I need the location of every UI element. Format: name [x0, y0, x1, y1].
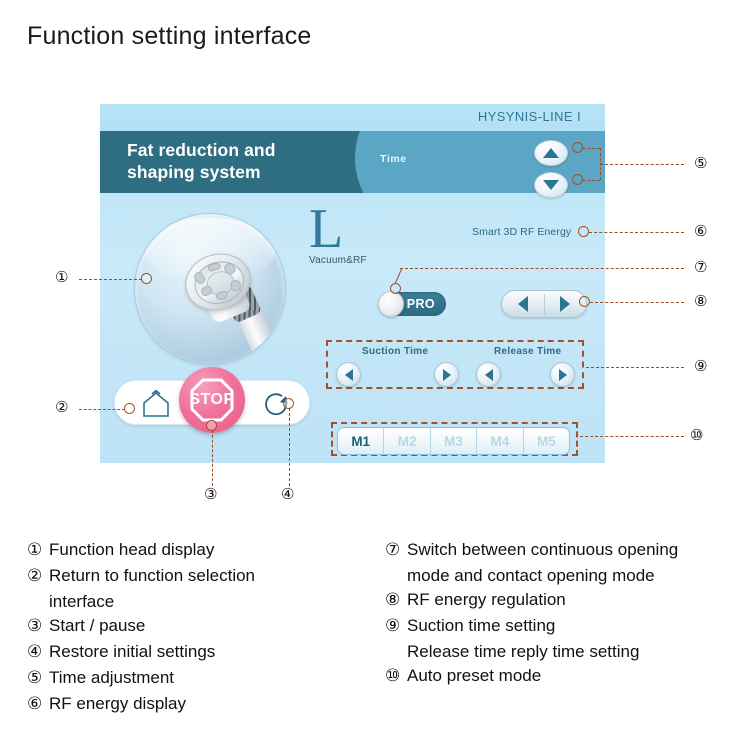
callout-number-10: ⑩ [690, 428, 703, 443]
triangle-up-icon [543, 148, 559, 158]
legend-item-9-text: Suction time setting [407, 614, 555, 638]
legend-column-right: ⑦ Switch between continuous opening mode… [385, 538, 750, 690]
banner-title-line2: shaping system [127, 161, 276, 183]
home-icon [141, 390, 171, 417]
legend-item-9-number: ⑨ [385, 614, 407, 638]
release-decrease-button[interactable] [476, 362, 501, 387]
legend-item-3-text: Start / pause [49, 614, 145, 638]
release-increase-button[interactable] [550, 362, 575, 387]
legend-item-3: ③ Start / pause [27, 614, 357, 638]
triangle-left-icon [485, 369, 493, 381]
release-time-label: Release Time [494, 346, 561, 357]
mode-logo-mark: L [309, 203, 343, 255]
callout-number-8: ⑧ [694, 294, 707, 309]
legend-item-6-number: ⑥ [27, 692, 49, 716]
suction-decrease-button[interactable] [336, 362, 361, 387]
legend-item-9: ⑨ Suction time setting Release time repl… [385, 614, 750, 664]
callout-line-6 [589, 232, 684, 233]
handpiece-pad [192, 270, 206, 285]
callout-anchor-2 [124, 403, 135, 414]
legend-item-10-text: Auto preset mode [407, 664, 541, 688]
preset-button-bar[interactable]: M1 M2 M3 M4 M5 [337, 427, 570, 455]
callout-line-10 [580, 436, 684, 437]
legend-item-1: ① Function head display [27, 538, 357, 562]
callout-number-9: ⑨ [694, 359, 707, 374]
pro-toggle-label: PRO [407, 297, 435, 311]
time-decrease-button[interactable] [534, 172, 568, 198]
legend-item-7-text: Switch between continuous opening [407, 538, 678, 562]
callout-number-1: ① [55, 270, 68, 285]
handpiece-pad [215, 290, 229, 301]
triangle-down-icon [543, 180, 559, 190]
legend-item-2-text: Return to function selection [49, 564, 255, 588]
callout-number-3: ③ [204, 487, 217, 502]
applicator-handpiece-image [177, 248, 277, 360]
suction-increase-button[interactable] [434, 362, 459, 387]
time-increase-button[interactable] [534, 140, 568, 166]
legend-item-9-text-line2: Release time reply time setting [407, 640, 750, 664]
legend-item-7-text-line2: mode and contact opening mode [407, 564, 750, 588]
legend-column-left: ① Function head display ② Return to func… [27, 538, 357, 718]
callout-line-3 [212, 430, 213, 486]
callout-leader-7 [392, 268, 408, 286]
device-screen: HYSYNIS-LINE I Fat reduction and shaping… [100, 104, 605, 463]
legend-item-2-text-line2: interface [49, 590, 357, 614]
callout-line-4 [289, 408, 290, 486]
callout-anchor-1 [141, 273, 152, 284]
legend-item-3-number: ③ [27, 614, 49, 638]
legend-item-5-number: ⑤ [27, 666, 49, 690]
stop-button-label: STOP [189, 391, 234, 409]
callout-number-2: ② [55, 400, 68, 415]
legend-item-10-number: ⑩ [385, 664, 407, 688]
preset-button-m4[interactable]: M4 [477, 428, 523, 454]
legend-item-6-text: RF energy display [49, 692, 186, 716]
callout-line-1 [79, 279, 142, 280]
triangle-left-icon [345, 369, 353, 381]
legend-item-7-number: ⑦ [385, 538, 407, 562]
callout-line-7 [400, 268, 684, 269]
handpiece-pad [231, 280, 241, 291]
legend-item-4-number: ④ [27, 640, 49, 664]
callout-line-5a [583, 148, 600, 149]
legend-item-4-text: Restore initial settings [49, 640, 215, 664]
callout-anchor-5b [572, 174, 583, 185]
page-title: Function setting interface [27, 22, 312, 51]
callout-number-4: ④ [281, 487, 294, 502]
callout-anchor-6 [578, 226, 589, 237]
legend-item-8-text: RF energy regulation [407, 588, 566, 612]
callout-line-8 [590, 302, 684, 303]
page-root: Function setting interface HYSYNIS-LINE … [0, 0, 750, 736]
suction-release-time-group: Suction Time Release Time [326, 340, 584, 389]
auto-preset-mode-group: M1 M2 M3 M4 M5 [331, 422, 578, 456]
time-label: Time [380, 153, 407, 165]
callout-number-7: ⑦ [694, 260, 707, 275]
callout-anchor-8 [579, 296, 590, 307]
home-button[interactable] [141, 390, 171, 417]
smart-rf-energy-label: Smart 3D RF Energy [472, 226, 571, 238]
legend-item-5: ⑤ Time adjustment [27, 666, 357, 690]
rf-energy-regulation-buttons[interactable] [501, 290, 587, 318]
callout-number-6: ⑥ [694, 224, 707, 239]
preset-button-m5[interactable]: M5 [524, 428, 569, 454]
rf-decrease-button[interactable] [502, 291, 544, 317]
toggle-knob [378, 291, 404, 317]
callout-anchor-5a [572, 142, 583, 153]
function-head-display[interactable] [134, 213, 286, 365]
callout-number-5: ⑤ [694, 156, 707, 171]
suction-time-label: Suction Time [362, 346, 428, 357]
preset-button-m3[interactable]: M3 [431, 428, 477, 454]
legend-item-1-text: Function head display [49, 538, 214, 562]
legend-item-10: ⑩ Auto preset mode [385, 664, 750, 688]
legend-item-5-text: Time adjustment [49, 666, 174, 690]
mode-logo-subtitle: Vacuum&RF [309, 255, 367, 266]
brand-label: HYSYNIS-LINE I [478, 109, 581, 124]
banner-title: Fat reduction and shaping system [127, 139, 276, 183]
triangle-left-icon [518, 296, 528, 312]
pro-mode-toggle[interactable]: PRO [380, 292, 446, 316]
legend-item-8-number: ⑧ [385, 588, 407, 612]
legend-item-2-number: ② [27, 564, 49, 588]
legend-item-8: ⑧ RF energy regulation [385, 588, 750, 612]
callout-line-9 [586, 367, 684, 368]
legend-item-2: ② Return to function selection interface [27, 564, 357, 614]
legend-item-6: ⑥ RF energy display [27, 692, 357, 716]
callout-line-2 [79, 409, 125, 410]
legend-item-1-number: ① [27, 538, 49, 562]
banner-title-line1: Fat reduction and [127, 139, 276, 161]
header-banner: Fat reduction and shaping system Time [100, 131, 605, 193]
preset-button-m2[interactable]: M2 [384, 428, 430, 454]
legend-item-7: ⑦ Switch between continuous opening mode… [385, 538, 750, 588]
legend-item-4: ④ Restore initial settings [27, 640, 357, 664]
callout-line-5 [600, 164, 684, 165]
triangle-right-icon [560, 296, 570, 312]
triangle-right-icon [559, 369, 567, 381]
preset-button-m1[interactable]: M1 [338, 428, 384, 454]
callout-line-5b [583, 180, 600, 181]
triangle-right-icon [443, 369, 451, 381]
